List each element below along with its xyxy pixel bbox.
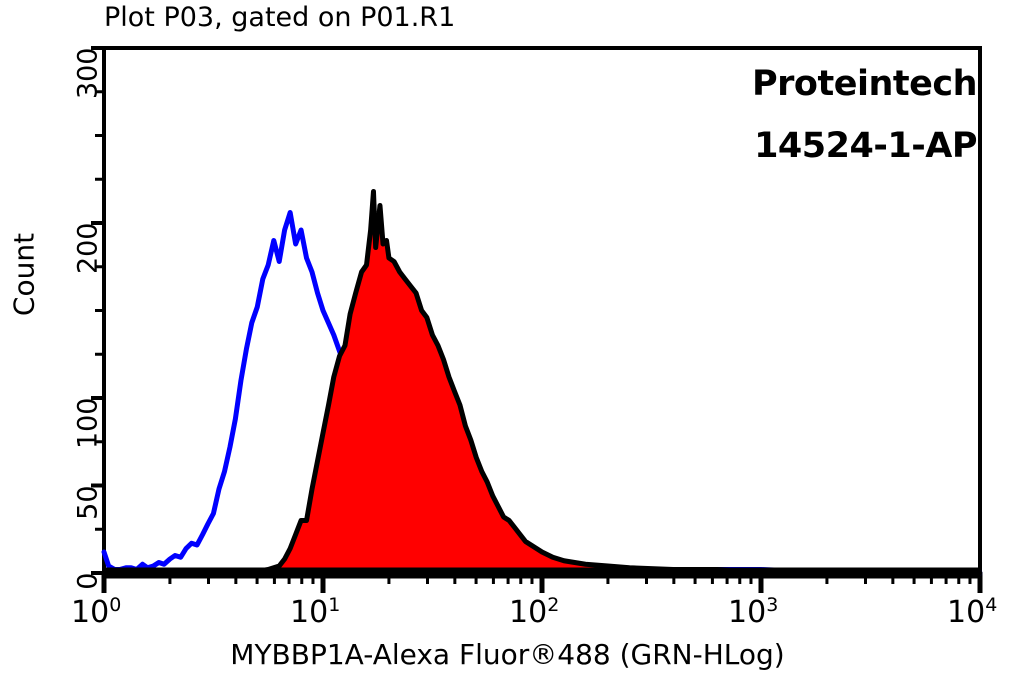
x-tick-label-10-4: 104 xyxy=(947,595,997,630)
x-axis-title: MYBBP1A-Alexa Fluor®488 (GRN-HLog) xyxy=(0,638,1015,671)
y-axis-title: Count xyxy=(8,195,41,355)
brand-catalog-number: 14524-1-AP xyxy=(754,126,977,166)
y-tick-label-200: 200 xyxy=(73,223,104,311)
y-tick-label-100: 100 xyxy=(73,398,104,486)
control-histogram-line xyxy=(104,213,980,574)
y-tick-label-300: 300 xyxy=(73,48,104,136)
x-tick-label-10-1: 101 xyxy=(290,595,340,630)
sample-histogram-fill xyxy=(104,192,980,574)
x-tick-label-10-2: 102 xyxy=(509,595,559,630)
x-tick-label-10-3: 103 xyxy=(728,595,778,630)
sample-histogram-outline xyxy=(104,192,980,574)
brand-name: Proteintech xyxy=(752,64,977,104)
y-tick-label-50: 50 xyxy=(73,485,104,573)
flow-cytometry-histogram: Plot P03, gated on P01.R1 Proteintech 14… xyxy=(0,0,1015,685)
plot-title: Plot P03, gated on P01.R1 xyxy=(104,4,455,31)
x-tick-label-10-0: 100 xyxy=(71,595,121,630)
